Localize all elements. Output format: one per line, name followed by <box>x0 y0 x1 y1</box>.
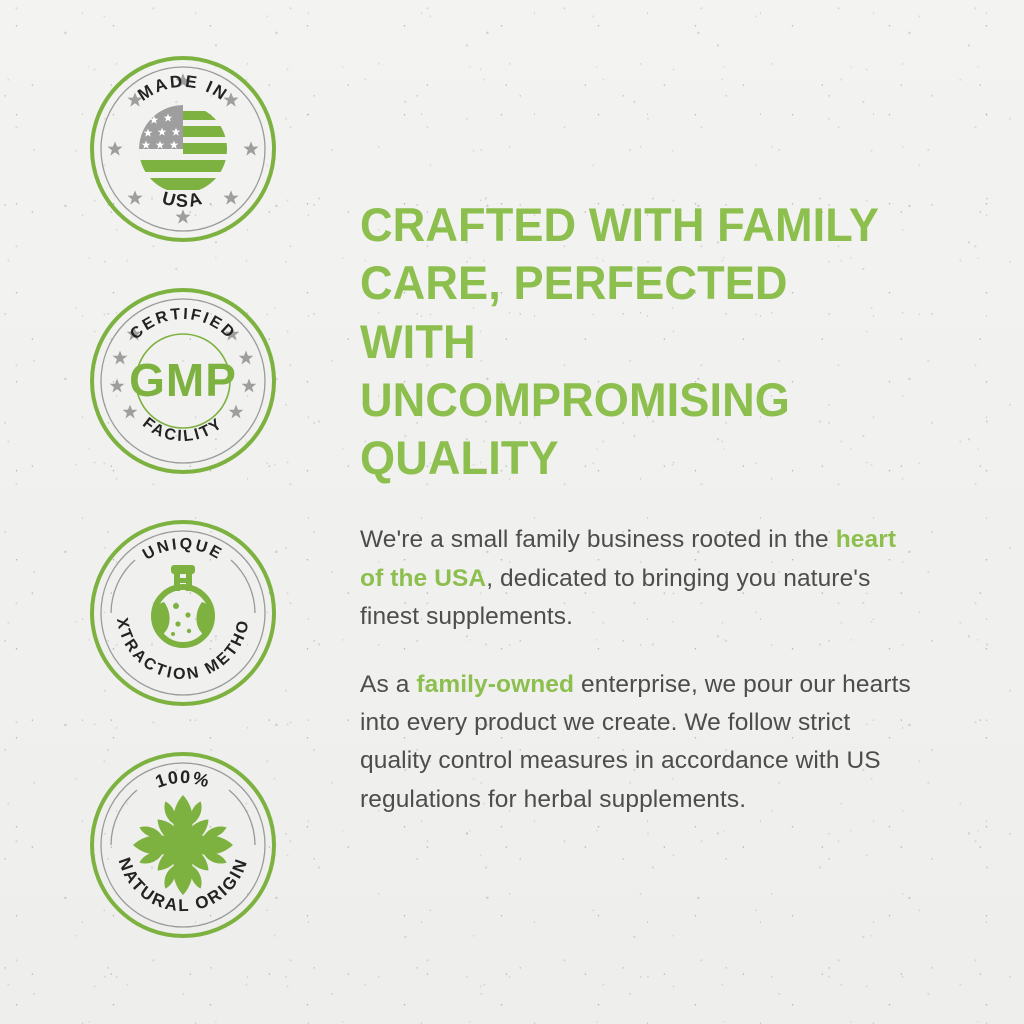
headline-line-4: QUALITY <box>360 431 559 484</box>
badge-gmp-certified-facility: GMP CERTIFIED FACILITY <box>88 286 278 476</box>
p1-text-a: We're a small family business rooted in … <box>360 526 836 553</box>
badge-bottom-text: USA <box>160 188 206 211</box>
page-title: CRAFTED WITH FAMILY CARE, PERFECTED WITH… <box>360 196 898 487</box>
badge-unique-extraction-method: UNIQUE EXTRACTION METHOD <box>88 518 278 708</box>
badge-natural-origin: 100% NATURAL ORIGIN <box>88 750 278 940</box>
svg-text:MADE IN: MADE IN <box>134 72 231 105</box>
paragraph-2: As a family-owned enterprise, we pour ou… <box>360 666 920 819</box>
svg-text:100%: 100% <box>153 767 213 792</box>
badge-top-text: UNIQUE <box>140 536 226 564</box>
svg-text:FACILITY: FACILITY <box>139 415 226 446</box>
headline-line-2: CARE, PERFECTED WITH <box>360 256 788 367</box>
svg-text:CERTIFIED: CERTIFIED <box>127 306 239 343</box>
badge-top-text: MADE IN <box>134 72 231 105</box>
badge-top-text: CERTIFIED <box>127 306 239 343</box>
copy-column: CRAFTED WITH FAMILY CARE, PERFECTED WITH… <box>360 196 920 819</box>
p2-text-a: As a <box>360 671 416 698</box>
flask-with-leaves-icon <box>152 565 214 645</box>
paragraph-1: We're a small family business rooted in … <box>360 521 920 636</box>
body-copy: We're a small family business rooted in … <box>360 521 920 819</box>
p2-highlight: family-owned <box>416 671 574 698</box>
infographic-canvas: MADE IN USA <box>0 0 1024 1024</box>
svg-text:USA: USA <box>160 188 206 211</box>
badge-made-in-usa: MADE IN USA <box>88 54 278 244</box>
gmp-center-text: GMP <box>129 354 237 406</box>
badge-top-text: 100% <box>153 767 213 792</box>
usa-flag-circle-icon <box>139 105 229 193</box>
svg-text:UNIQUE: UNIQUE <box>140 536 226 564</box>
badge-bottom-text: FACILITY <box>139 415 226 446</box>
headline-line-3: UNCOMPROMISING <box>360 373 790 426</box>
headline-line-1: CRAFTED WITH FAMILY <box>360 198 879 251</box>
trust-badge-column: MADE IN USA <box>88 54 300 982</box>
leaf-rosette-icon <box>133 795 233 895</box>
